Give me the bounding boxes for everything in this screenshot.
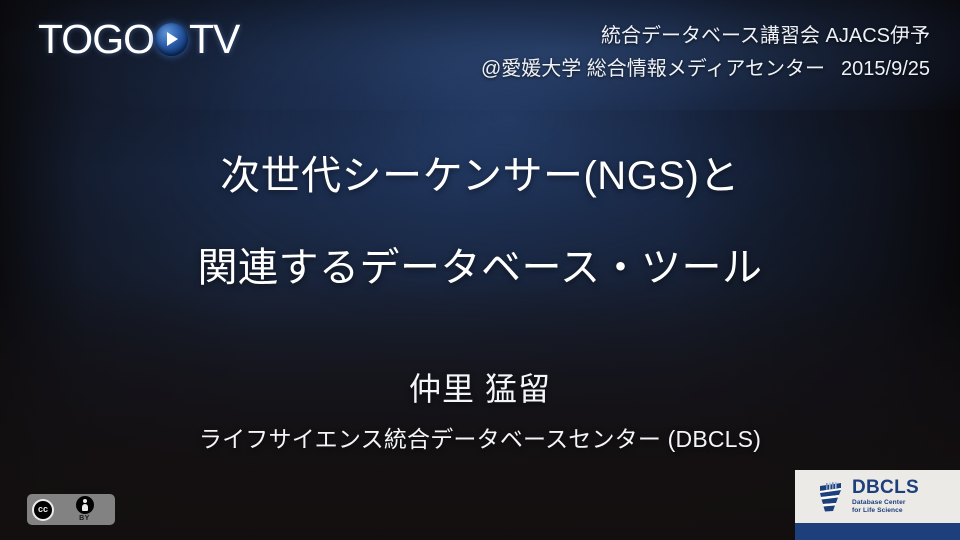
presentation-slide: TOGO TV 統合データベース講習会 AJACS伊予 @愛媛大学 総合情報メデ… <box>0 0 960 540</box>
header-event-name: 統合データベース講習会 AJACS伊予 <box>481 20 930 53</box>
dbcls-mark-svg <box>817 481 845 513</box>
creative-commons-icon: cc <box>32 499 54 521</box>
togotv-logo-text-left: TOGO <box>38 19 154 60</box>
header-venue: @愛媛大学 総合情報メディアセンター <box>481 58 825 80</box>
dbcls-striped-wave-icon <box>817 481 845 513</box>
header-event-info: 統合データベース講習会 AJACS伊予 @愛媛大学 総合情報メディアセンター20… <box>481 20 930 86</box>
title-line-1: 次世代シーケンサー(NGS)と <box>0 156 960 196</box>
slide-title: 次世代シーケンサー(NGS)と 関連するデータベース・ツール <box>0 156 960 288</box>
cc-glyph: cc <box>34 501 52 519</box>
presenter-affiliation: ライフサイエンス統合データベースセンター (DBCLS) <box>0 427 960 452</box>
header-date: 2015/9/25 <box>841 58 930 80</box>
togotv-logo: TOGO TV <box>38 16 239 62</box>
dbcls-bottom-bar <box>795 523 960 540</box>
dbcls-subtitle-line-2: for Life Science <box>852 507 919 515</box>
title-line-2: 関連するデータベース・ツール <box>0 248 960 288</box>
slide-header: TOGO TV 統合データベース講習会 AJACS伊予 @愛媛大学 総合情報メデ… <box>0 0 960 112</box>
play-circle-icon <box>155 23 188 56</box>
slide-presenter: 仲里 猛留 ライフサイエンス統合データベースセンター (DBCLS) <box>0 372 960 452</box>
attribution-person-icon <box>76 496 94 514</box>
dbcls-subtitle-line-1: Database Center <box>852 499 919 507</box>
attribution-label: BY <box>79 515 90 522</box>
dbcls-logo-panel: DBCLS Database Center for Life Science <box>795 470 960 540</box>
presenter-name: 仲里 猛留 <box>0 372 960 407</box>
attribution-group: BY <box>54 494 115 525</box>
dbcls-wordmark: DBCLS Database Center for Life Science <box>852 478 919 515</box>
togotv-logo-text-right: TV <box>189 19 239 60</box>
creative-commons-badge: cc BY <box>27 494 115 525</box>
header-venue-date: @愛媛大学 総合情報メディアセンター2015/9/25 <box>481 53 930 86</box>
dbcls-subtitle: Database Center for Life Science <box>852 499 919 515</box>
dbcls-logo: DBCLS Database Center for Life Science <box>795 470 960 523</box>
dbcls-title: DBCLS <box>852 478 919 497</box>
